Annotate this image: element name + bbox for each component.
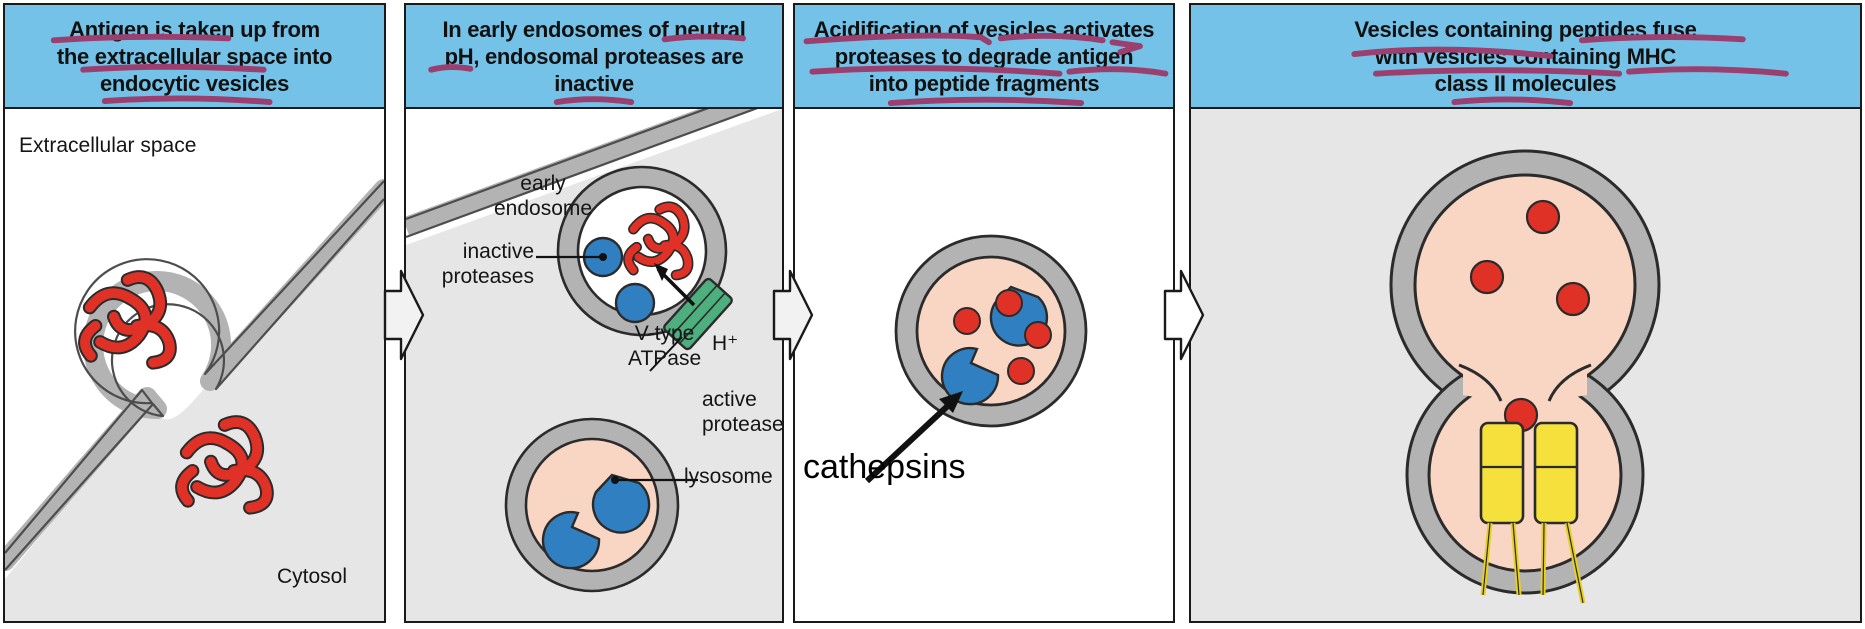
proton-label: H⁺	[712, 331, 738, 356]
connector-arrow-2-to-3	[772, 265, 814, 365]
panel-1-graphic	[5, 109, 384, 621]
panel-3-graphic	[795, 109, 1173, 621]
early-endosome-label: early endosome	[494, 171, 592, 221]
panel-3: Acidification of vesicles activates prot…	[793, 3, 1175, 623]
acidified-vesicle	[896, 236, 1086, 426]
panel-2-caption: In early endosomes of neutral pH, endoso…	[406, 5, 782, 109]
panel-4-caption-text: Vesicles containing peptides fuse with v…	[1348, 16, 1702, 97]
panel-3-caption-text: Acidification of vesicles activates prot…	[808, 16, 1160, 97]
panel-1-body: Extracellular space Cytosol	[5, 109, 384, 621]
panel-2-caption-text: In early endosomes of neutral pH, endoso…	[436, 16, 751, 97]
peptide-fragment-2	[996, 290, 1022, 316]
panel-2-body: early endosome inactive proteases V-type…	[406, 109, 782, 621]
panel-1: Antigen is taken up from the extracellul…	[3, 3, 386, 623]
peptide-fragment-4	[1008, 358, 1034, 384]
inactive-protease-2	[616, 284, 654, 322]
v-type-atpase-label: V-type ATPase	[628, 321, 701, 371]
cytosol-label: Cytosol	[277, 564, 347, 589]
panel-4-caption: Vesicles containing peptides fuse with v…	[1191, 5, 1860, 109]
peptide-fragment-2	[1471, 261, 1503, 293]
connector-arrow-3-to-4	[1163, 265, 1205, 365]
peptide-fragment-1	[1527, 201, 1559, 233]
panel-1-caption-text: Antigen is taken up from the extracellul…	[51, 16, 338, 97]
panel-4: Vesicles containing peptides fuse with v…	[1189, 3, 1862, 623]
extracellular-space-label: Extracellular space	[19, 133, 196, 158]
panel-4-graphic	[1191, 109, 1860, 621]
panel-3-body: cathepsins	[795, 109, 1173, 621]
figure-root: Antigen is taken up from the extracellul…	[0, 0, 1865, 629]
cathepsins-label: cathepsins	[803, 455, 966, 480]
panel-4-body	[1191, 109, 1860, 621]
panel-3-caption: Acidification of vesicles activates prot…	[795, 5, 1173, 109]
panel-2: In early endosomes of neutral pH, endoso…	[404, 3, 784, 623]
peptide-fragment-1	[954, 308, 980, 334]
panel-2-graphic	[406, 109, 782, 621]
peptide-fragment-3	[1025, 322, 1051, 348]
active-proteases-label: active proteases	[702, 387, 782, 437]
peptide-fragment-3	[1557, 283, 1589, 315]
lysosome-label: lysosome	[684, 464, 773, 489]
panel-1-caption: Antigen is taken up from the extracellul…	[5, 5, 384, 109]
inactive-proteases-label: inactive proteases	[414, 239, 534, 289]
fusing-vesicles	[1389, 149, 1661, 603]
connector-arrow-1-to-2	[383, 265, 425, 365]
